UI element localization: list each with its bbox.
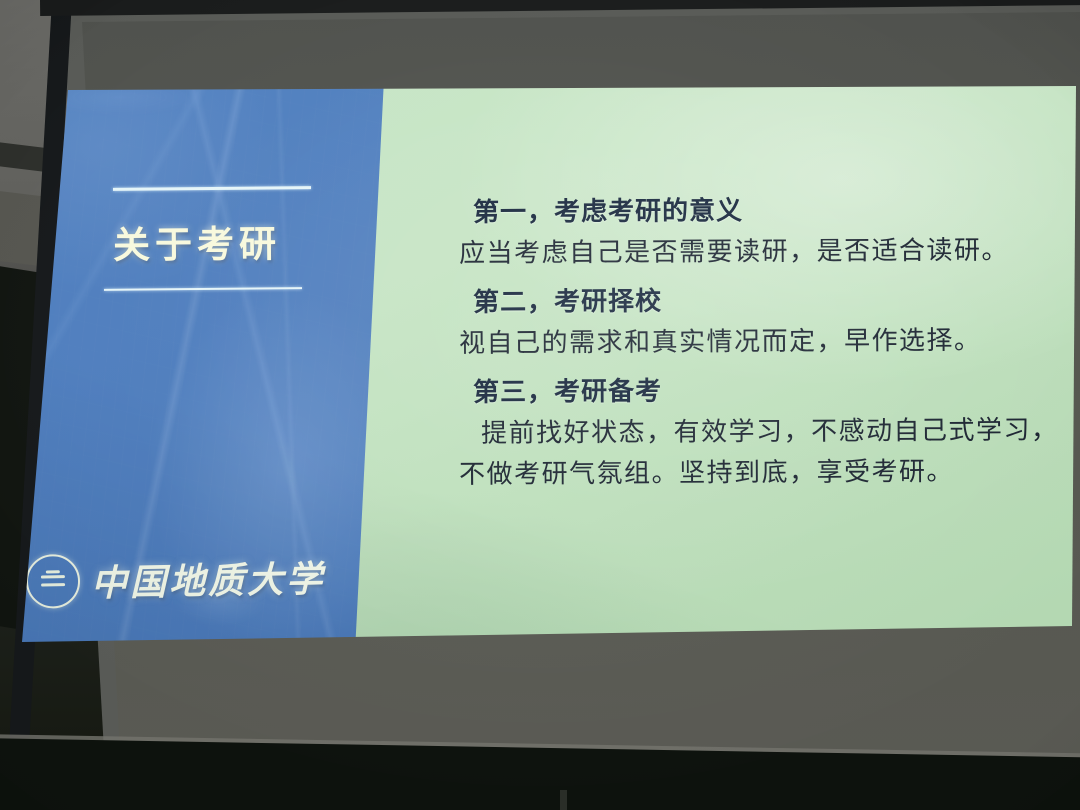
section-2-line-1: 视自己的需求和真实情况而定，早作选择。 bbox=[459, 319, 1075, 360]
slide-section-1: 第一，考虑考研的意义 应当考虑自己是否需要读研，是否适合读研。 bbox=[455, 190, 1075, 268]
university-brand: 中国地质大学 bbox=[26, 549, 326, 609]
section-3-heading: 第三，考研备考 bbox=[473, 368, 1075, 409]
screenshot-stage: 关于考研 中国地质大学 第一，考虑考研的意义 应当考虑自己是否需要读研，是否适合… bbox=[0, 0, 1080, 810]
section-3-line-1: 提前找好状态，有效学习，不感动自己式学习， bbox=[481, 409, 1075, 450]
section-3-line-2: 不做考研气氛组。坚持到底，享受考研。 bbox=[459, 450, 1075, 491]
university-name-label: 中国地质大学 bbox=[91, 550, 326, 606]
slide-section-3: 第三，考研备考 提前找好状态，有效学习，不感动自己式学习， 不做考研气氛组。坚持… bbox=[455, 370, 1075, 489]
university-seal-icon bbox=[26, 554, 81, 609]
section-1-heading: 第一，考虑考研的意义 bbox=[473, 188, 1075, 229]
section-1-line-1: 应当考虑自己是否需要读研，是否适合读研。 bbox=[459, 229, 1075, 270]
furniture-leg bbox=[560, 790, 567, 810]
slide-body-content: 第一，考虑考研的意义 应当考虑自己是否需要读研，是否适合读研。 第二，考研择校 … bbox=[455, 190, 1075, 495]
section-2-heading: 第二，考研择校 bbox=[473, 278, 1075, 319]
slide-sidebar-title: 关于考研 bbox=[113, 213, 343, 269]
slide-section-2: 第二，考研择校 视自己的需求和真实情况而定，早作选择。 bbox=[455, 280, 1075, 358]
